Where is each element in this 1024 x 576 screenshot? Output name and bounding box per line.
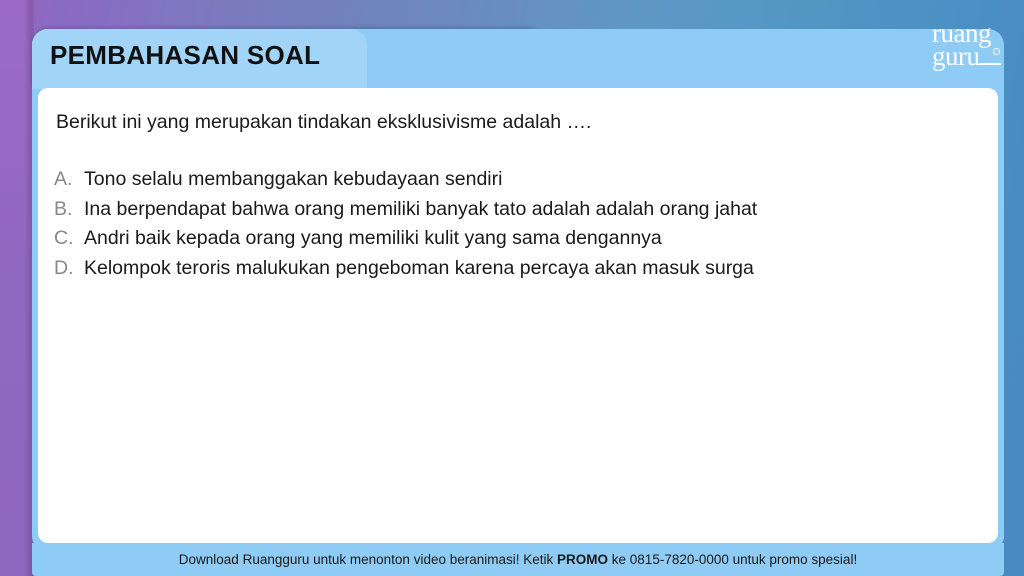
option-letter-c: C. — [54, 227, 84, 250]
option-text-a: Tono selalu membanggakan kebudayaan send… — [84, 168, 502, 191]
promo-footer-text: Download Ruangguru untuk menonton video … — [179, 552, 857, 567]
answer-option-d[interactable]: D. Kelompok teroris malukukan pengeboman… — [54, 257, 976, 280]
slide-canvas: PEMBAHASAN SOAL ruang guru Berikut ini y… — [0, 0, 1024, 576]
option-text-c: Andri baik kepada orang yang memiliki ku… — [84, 227, 662, 250]
option-letter-b: B. — [54, 198, 84, 221]
logo-line-guru: guru — [932, 45, 991, 68]
answer-option-b[interactable]: B. Ina berpendapat bahwa orang memiliki … — [54, 198, 976, 221]
promo-keyword: PROMO — [557, 552, 608, 567]
answer-option-a[interactable]: A. Tono selalu membanggakan kebudayaan s… — [54, 168, 976, 191]
promo-footer-banner: Download Ruangguru untuk menonton video … — [32, 543, 1004, 576]
question-card: Berikut ini yang merupakan tindakan eksk… — [38, 88, 998, 543]
page-title: PEMBAHASAN SOAL — [50, 40, 320, 71]
ruangguru-logo: ruang guru — [932, 22, 991, 68]
question-text: Berikut ini yang merupakan tindakan eksk… — [56, 111, 970, 134]
answer-option-c[interactable]: C. Andri baik kepada orang yang memiliki… — [54, 227, 976, 250]
option-text-d: Kelompok teroris malukukan pengeboman ka… — [84, 257, 754, 280]
option-letter-a: A. — [54, 168, 84, 191]
promo-text-after: ke 0815-7820-0000 untuk promo spesial! — [608, 552, 857, 567]
answer-options-list: A. Tono selalu membanggakan kebudayaan s… — [54, 168, 976, 286]
option-letter-d: D. — [54, 257, 84, 280]
logo-underline-mark-icon — [979, 63, 1001, 65]
option-text-b: Ina berpendapat bahwa orang memiliki ban… — [84, 198, 757, 221]
logo-guru-text: guru — [932, 41, 980, 71]
promo-text-before: Download Ruangguru untuk menonton video … — [179, 552, 557, 567]
